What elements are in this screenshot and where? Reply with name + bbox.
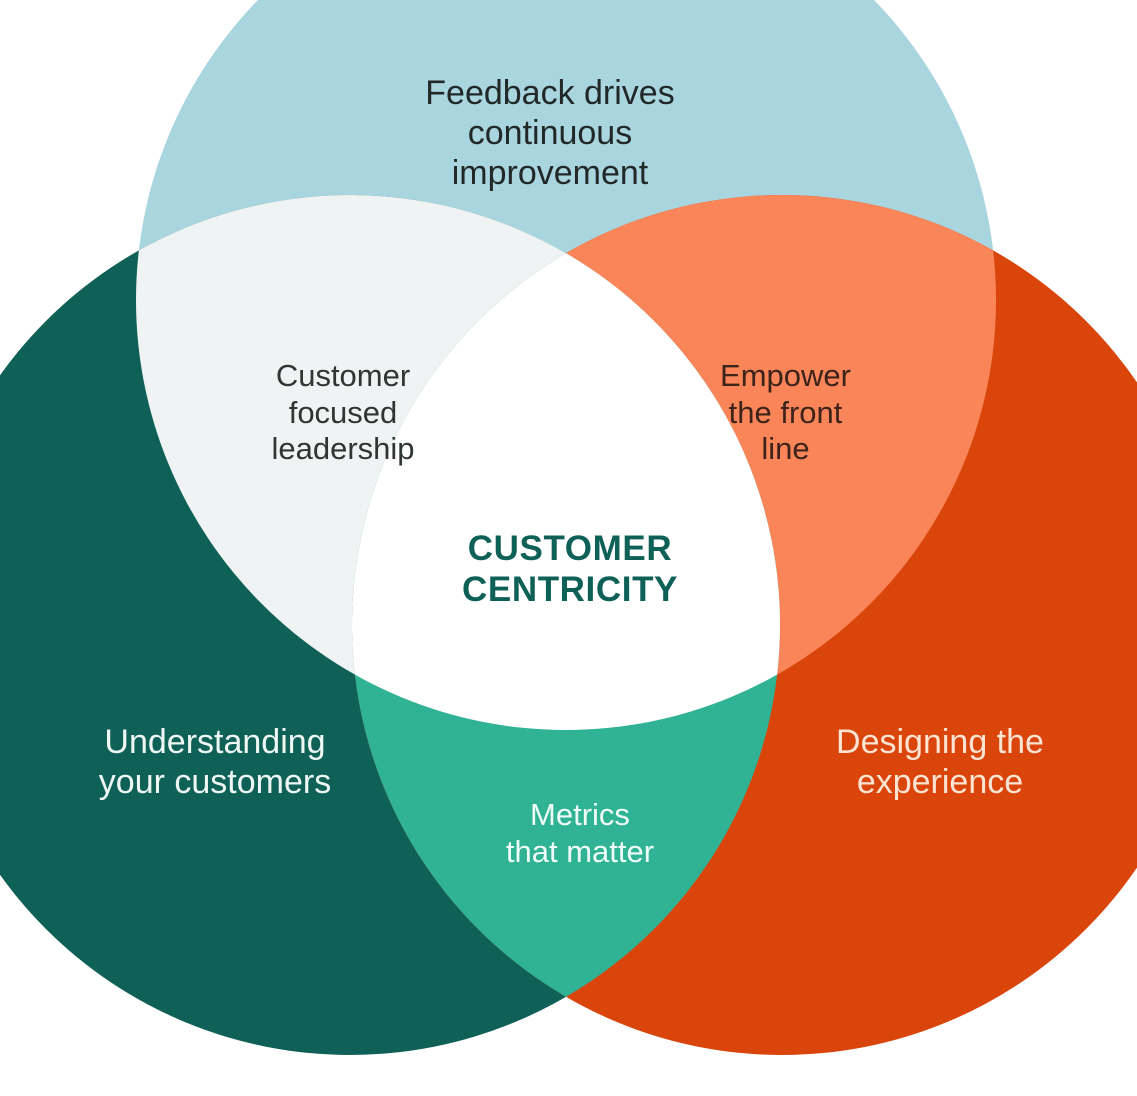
label-feedback: Feedback drives continuous improvement xyxy=(365,73,735,193)
label-customer-focused-leadership: Customer focused leadership xyxy=(218,358,468,468)
label-designing: Designing the experience xyxy=(775,722,1105,802)
label-understanding: Understanding your customers xyxy=(40,722,390,802)
venn-diagram: Feedback drives continuous improvement U… xyxy=(0,0,1137,1096)
label-customer-centricity: CUSTOMER CENTRICITY xyxy=(405,528,735,611)
label-metrics-that-matter: Metrics that matter xyxy=(455,797,705,870)
label-empower-the-front-line: Empower the front line xyxy=(663,358,908,468)
